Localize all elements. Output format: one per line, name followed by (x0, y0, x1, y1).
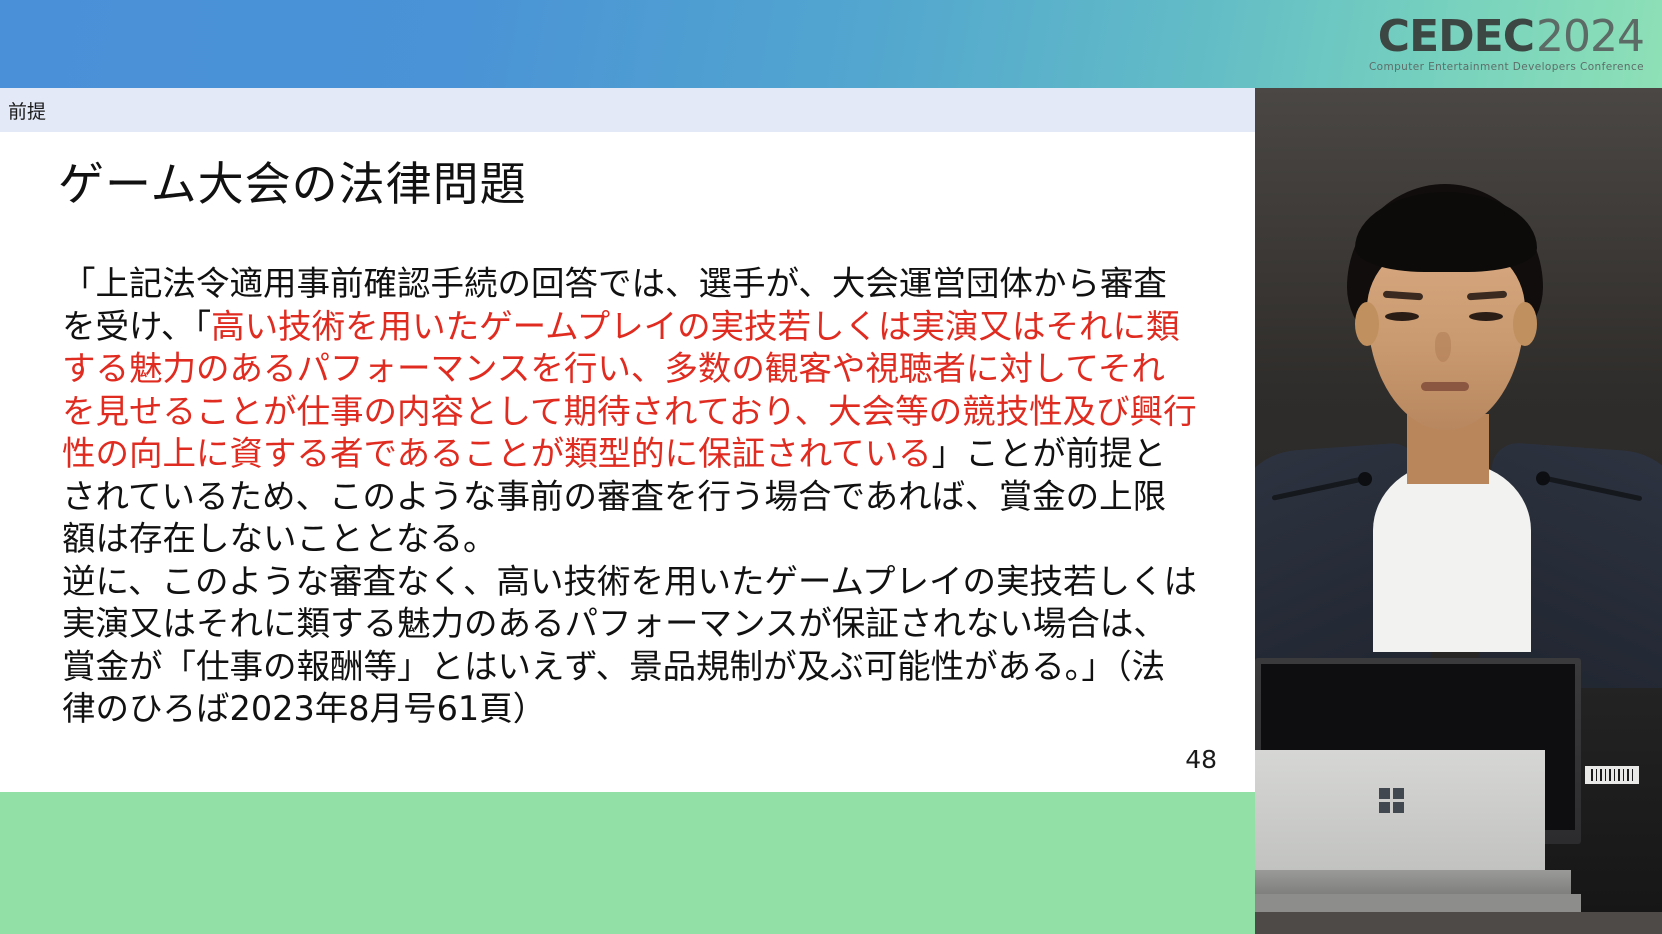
speaker-ear-right (1513, 302, 1537, 346)
slide-paragraph-1: 「上記法令適用事前確認手続の回答では、選手が、大会運営団体から審査を受け、「高い… (62, 263, 1197, 561)
speaker-video-panel (1255, 88, 1662, 934)
cedec-logo-wordmark: CEDEC2024 (1378, 15, 1644, 59)
slide-body-text: 「上記法令適用事前確認手続の回答では、選手が、大会運営団体から審査を受け、「高い… (62, 263, 1197, 731)
laptop-base (1255, 870, 1571, 896)
speaker-mouth (1421, 382, 1469, 391)
cedec-logo-year: 2024 (1536, 15, 1644, 59)
speaker-shirt (1373, 462, 1531, 652)
cedec-logo: CEDEC2024 Computer Entertainment Develop… (1384, 8, 1644, 80)
windows-logo-icon (1379, 788, 1405, 814)
bottom-green-bar (0, 792, 1255, 934)
cedec-logo-primary: CEDEC (1378, 15, 1534, 59)
presentation-screen: CEDEC2024 Computer Entertainment Develop… (0, 0, 1662, 934)
top-banner: CEDEC2024 Computer Entertainment Develop… (0, 0, 1662, 88)
slide-paragraph-2: 逆に、このような審査なく、高い技術を用いたゲームプレイの実技若しくは実演又はそれ… (62, 561, 1197, 731)
speaker-nose (1435, 332, 1451, 362)
desk-edge (1255, 894, 1581, 912)
cedec-logo-subtitle: Computer Entertainment Developers Confer… (1369, 62, 1644, 73)
speaker-ear-left (1355, 302, 1379, 346)
barcode-label (1585, 766, 1639, 784)
slide-section-label: 前提 (8, 97, 46, 124)
text-run-normal-3: 逆に、このような審査なく、高い技術を用いたゲームプレイの実技若しくは実演又はそれ… (62, 562, 1197, 729)
slide-title: ゲーム大会の法律問題 (58, 148, 527, 214)
slide-area: 前提 ゲーム大会の法律問題 「上記法令適用事前確認手続の回答では、選手が、大会運… (0, 88, 1255, 792)
slide-section-header: 前提 (0, 88, 1255, 132)
slide-page-number: 48 (1185, 745, 1217, 774)
video-floor (1255, 912, 1662, 934)
speaker-eye-left (1385, 312, 1419, 321)
speaker-eye-right (1469, 312, 1503, 321)
